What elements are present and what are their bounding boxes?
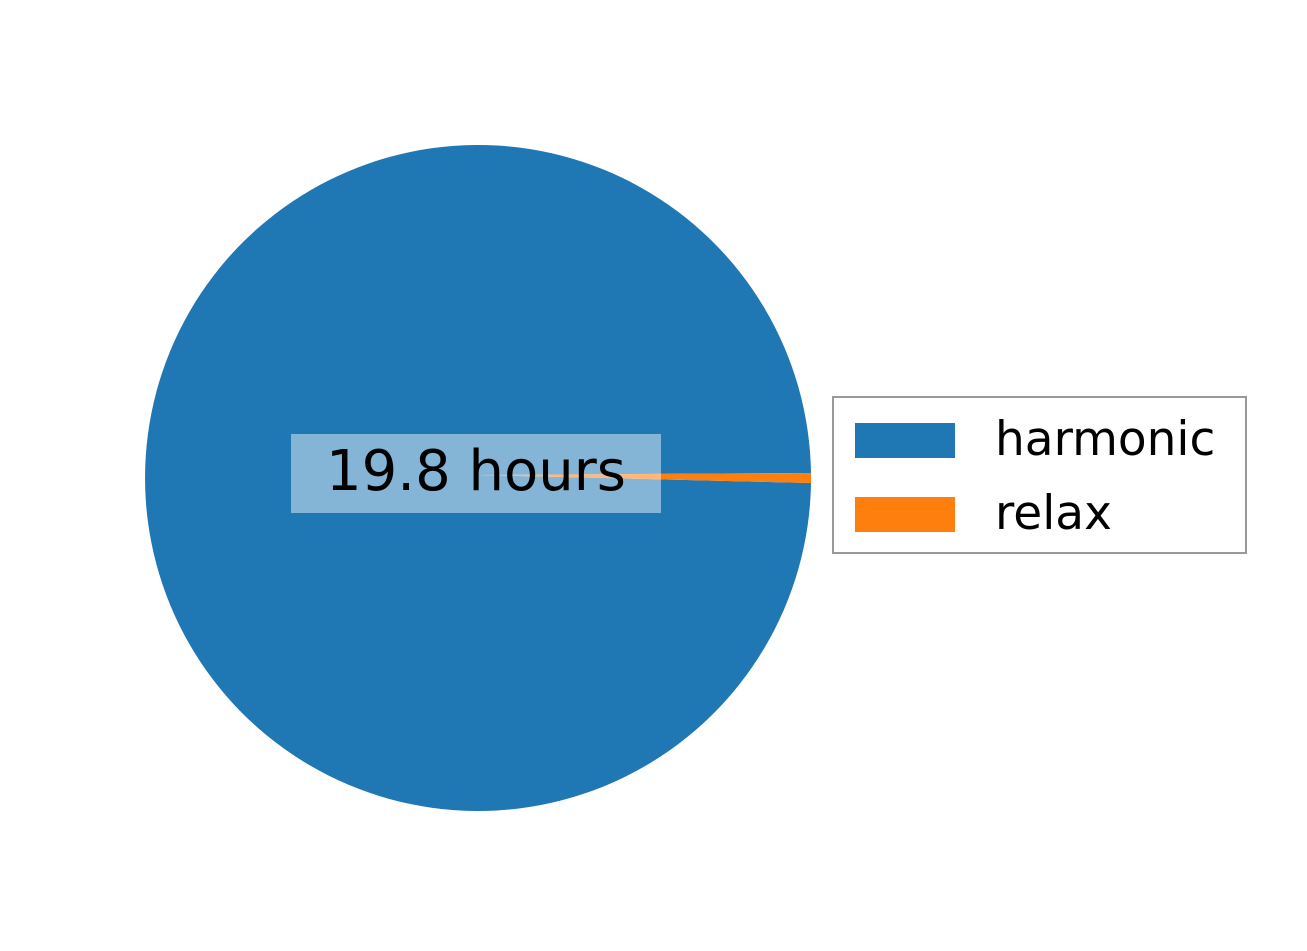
- legend-swatch-harmonic: [855, 423, 955, 458]
- legend: harmonic relax: [832, 396, 1247, 554]
- legend-swatch-relax: [855, 497, 955, 532]
- pie-chart-figure: 19.8 hours harmonic relax: [0, 0, 1307, 951]
- legend-item-harmonic[interactable]: harmonic: [855, 412, 1215, 468]
- pie-slice-label-harmonic: 19.8 hours: [291, 434, 661, 513]
- legend-item-relax[interactable]: relax: [855, 486, 1112, 542]
- legend-label-relax: relax: [995, 490, 1112, 537]
- pie-slice-label-harmonic-text: 19.8 hours: [326, 444, 626, 500]
- legend-label-harmonic: harmonic: [995, 416, 1215, 463]
